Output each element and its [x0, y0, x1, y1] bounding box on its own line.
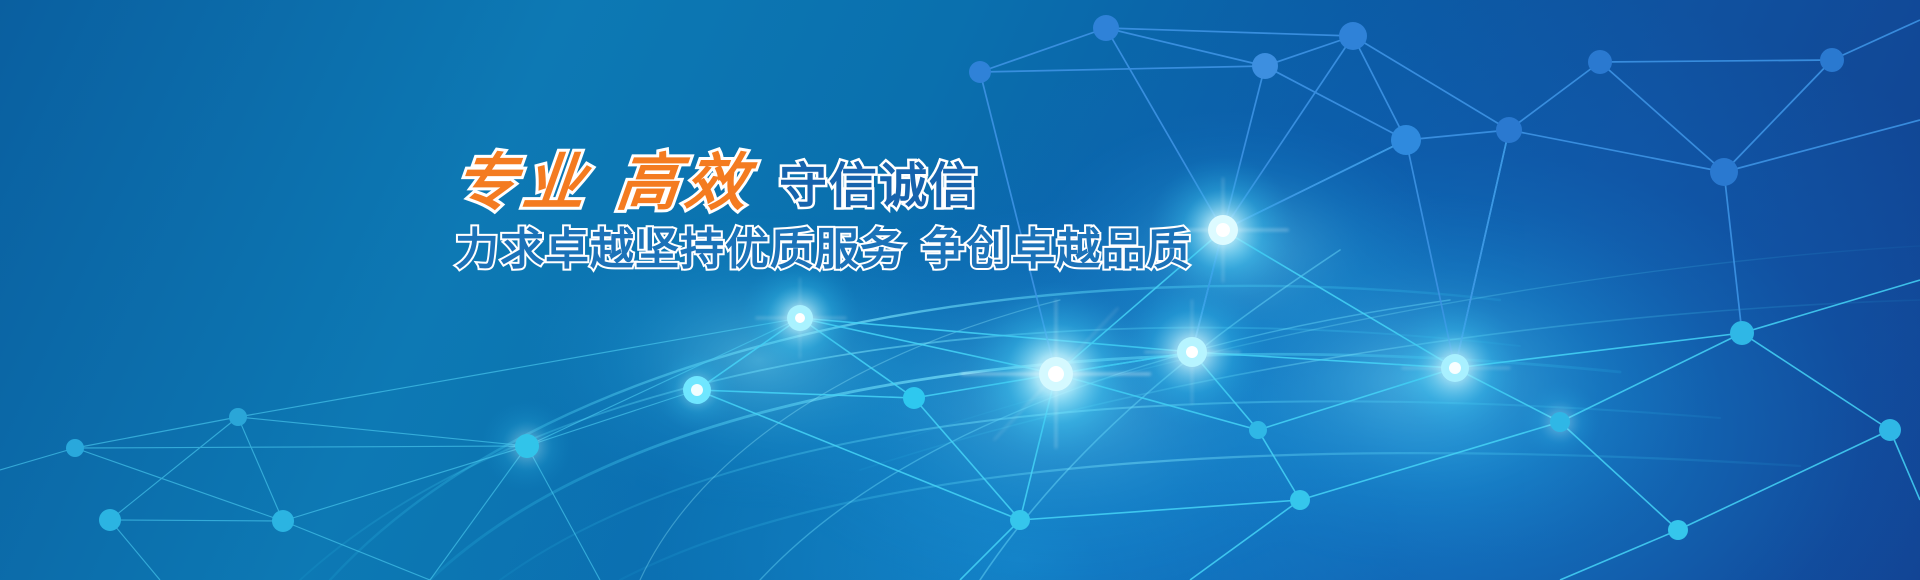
- headline-keyword-tertiary: 守信诚信: [779, 162, 979, 210]
- banner-subline: 力求卓越坚持优质服务 争创卓越品质: [455, 226, 1155, 274]
- headline-keyword-secondary: 高效: [614, 152, 757, 214]
- headline-row: 专业 高效 守信诚信: [455, 130, 1155, 214]
- headline-keyword-primary: 专业: [452, 152, 595, 214]
- hero-banner: 专业 高效 守信诚信 力求卓越坚持优质服务 争创卓越品质: [0, 0, 1920, 580]
- network-graphic-layer: [0, 0, 1920, 580]
- banner-text-block: 专业 高效 守信诚信 力求卓越坚持优质服务 争创卓越品质: [455, 130, 1155, 274]
